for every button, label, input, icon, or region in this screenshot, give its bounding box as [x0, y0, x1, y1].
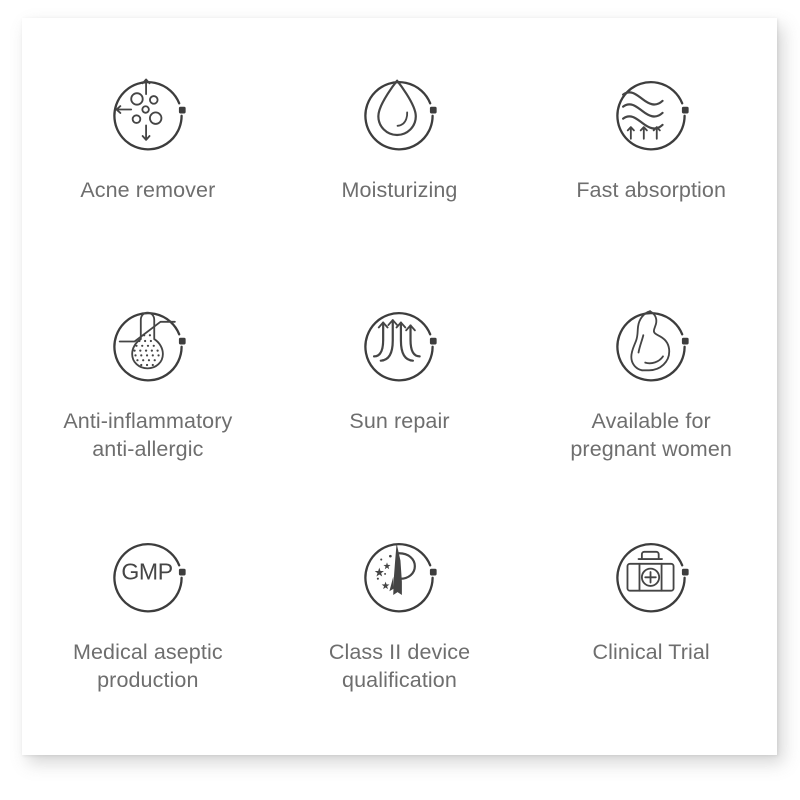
- feature-item-acne-remover[interactable]: Acne remover: [22, 36, 274, 267]
- acne-remover-icon: [100, 62, 196, 158]
- gmp-badge-icon: GMP: [100, 524, 196, 620]
- feature-label: Anti-inflammatory anti-allergic: [63, 408, 232, 463]
- gmp-label: GMP: [121, 559, 172, 585]
- feature-label: Medical aseptic production: [73, 639, 223, 694]
- feature-label: Clinical Trial: [593, 639, 710, 667]
- waves-up-arrows-icon: [603, 62, 699, 158]
- feature-label: Sun repair: [349, 408, 449, 436]
- feature-item-medical-aseptic-production[interactable]: GMP Medical aseptic production: [22, 498, 274, 729]
- feature-grid: Acne remover Moisturizing: [22, 18, 777, 755]
- rocket-stars-icon: [351, 524, 447, 620]
- feature-card: Acne remover Moisturizing: [22, 18, 777, 755]
- feature-item-moisturizing[interactable]: Moisturizing: [274, 36, 526, 267]
- feature-label: Fast absorption: [576, 177, 726, 205]
- feature-label: Class II device qualification: [329, 639, 470, 694]
- feature-item-clinical-trial[interactable]: Clinical Trial: [525, 498, 777, 729]
- feature-item-pregnant-safe[interactable]: Available for pregnant women: [525, 267, 777, 498]
- pregnant-woman-icon: [603, 293, 699, 389]
- water-droplet-icon: [351, 62, 447, 158]
- feature-item-fast-absorption[interactable]: Fast absorption: [525, 36, 777, 267]
- curved-up-arrows-icon: [351, 293, 447, 389]
- feature-item-class-ii-device[interactable]: Class II device qualification: [274, 498, 526, 729]
- feature-label: Available for pregnant women: [570, 408, 732, 463]
- feature-label: Moisturizing: [342, 177, 458, 205]
- feature-item-anti-inflammatory[interactable]: Anti-inflammatory anti-allergic: [22, 267, 274, 498]
- medical-kit-icon: [603, 524, 699, 620]
- feature-item-sun-repair[interactable]: Sun repair: [274, 267, 526, 498]
- pore-follicle-icon: [100, 293, 196, 389]
- feature-label: Acne remover: [80, 177, 215, 205]
